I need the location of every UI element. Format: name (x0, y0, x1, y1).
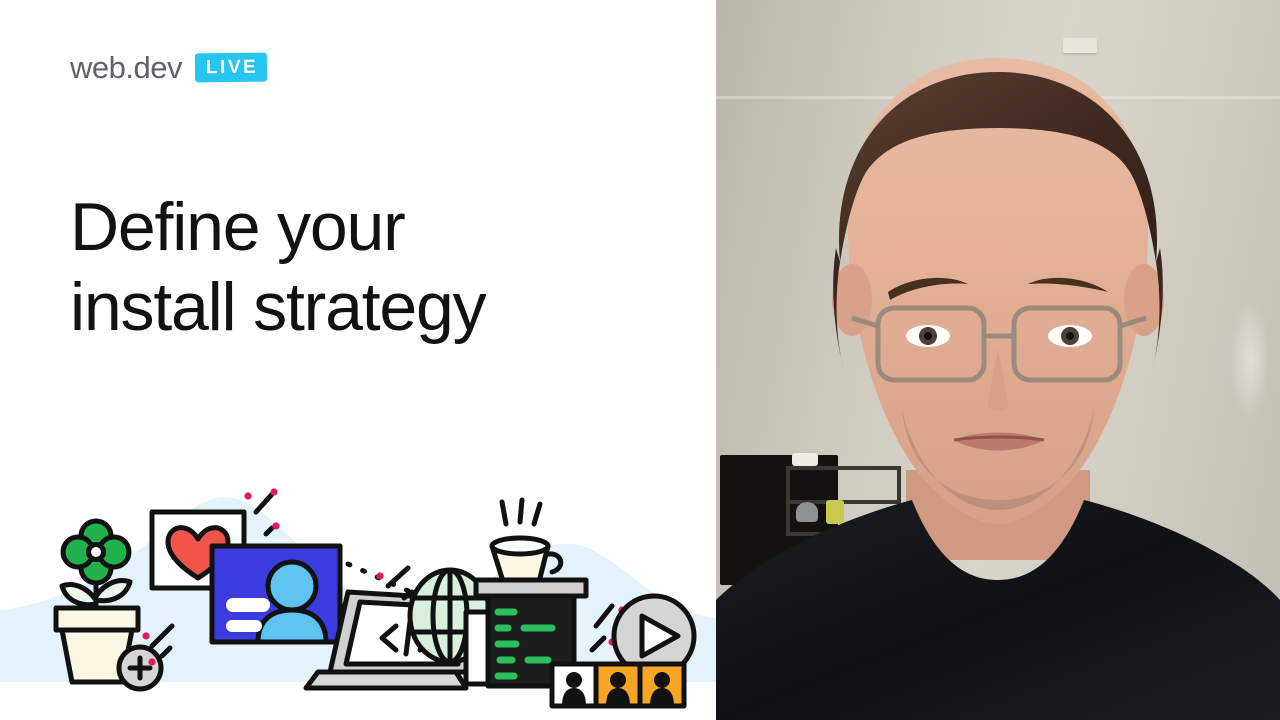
sparkle-dot (142, 632, 149, 639)
sparkle-dot (148, 658, 155, 665)
people-tiles-illustration (552, 664, 684, 706)
profile-card-illustration (212, 546, 340, 642)
slide-illustration (0, 460, 716, 720)
coffee-cup-illustration (492, 500, 561, 584)
live-badge: LIVE (195, 53, 268, 83)
brand-logo: web.dev LIVE (70, 52, 267, 83)
sparkle-dot (272, 522, 279, 529)
brand-wordmark: web.dev (70, 52, 182, 83)
sparkles-top (256, 492, 274, 534)
presenter-portrait (716, 0, 1280, 720)
sparkle-dot (244, 492, 251, 499)
sparkle-dot (376, 572, 383, 579)
speaker-webcam-feed[interactable] (716, 0, 1280, 720)
presentation-stage: web.dev LIVE Define your install strateg… (0, 0, 1280, 720)
slide-panel: web.dev LIVE Define your install strateg… (0, 0, 716, 720)
flower-pot-illustration (56, 521, 161, 689)
sparkle-dot (270, 488, 277, 495)
slide-headline: Define your install strategy (70, 188, 670, 347)
